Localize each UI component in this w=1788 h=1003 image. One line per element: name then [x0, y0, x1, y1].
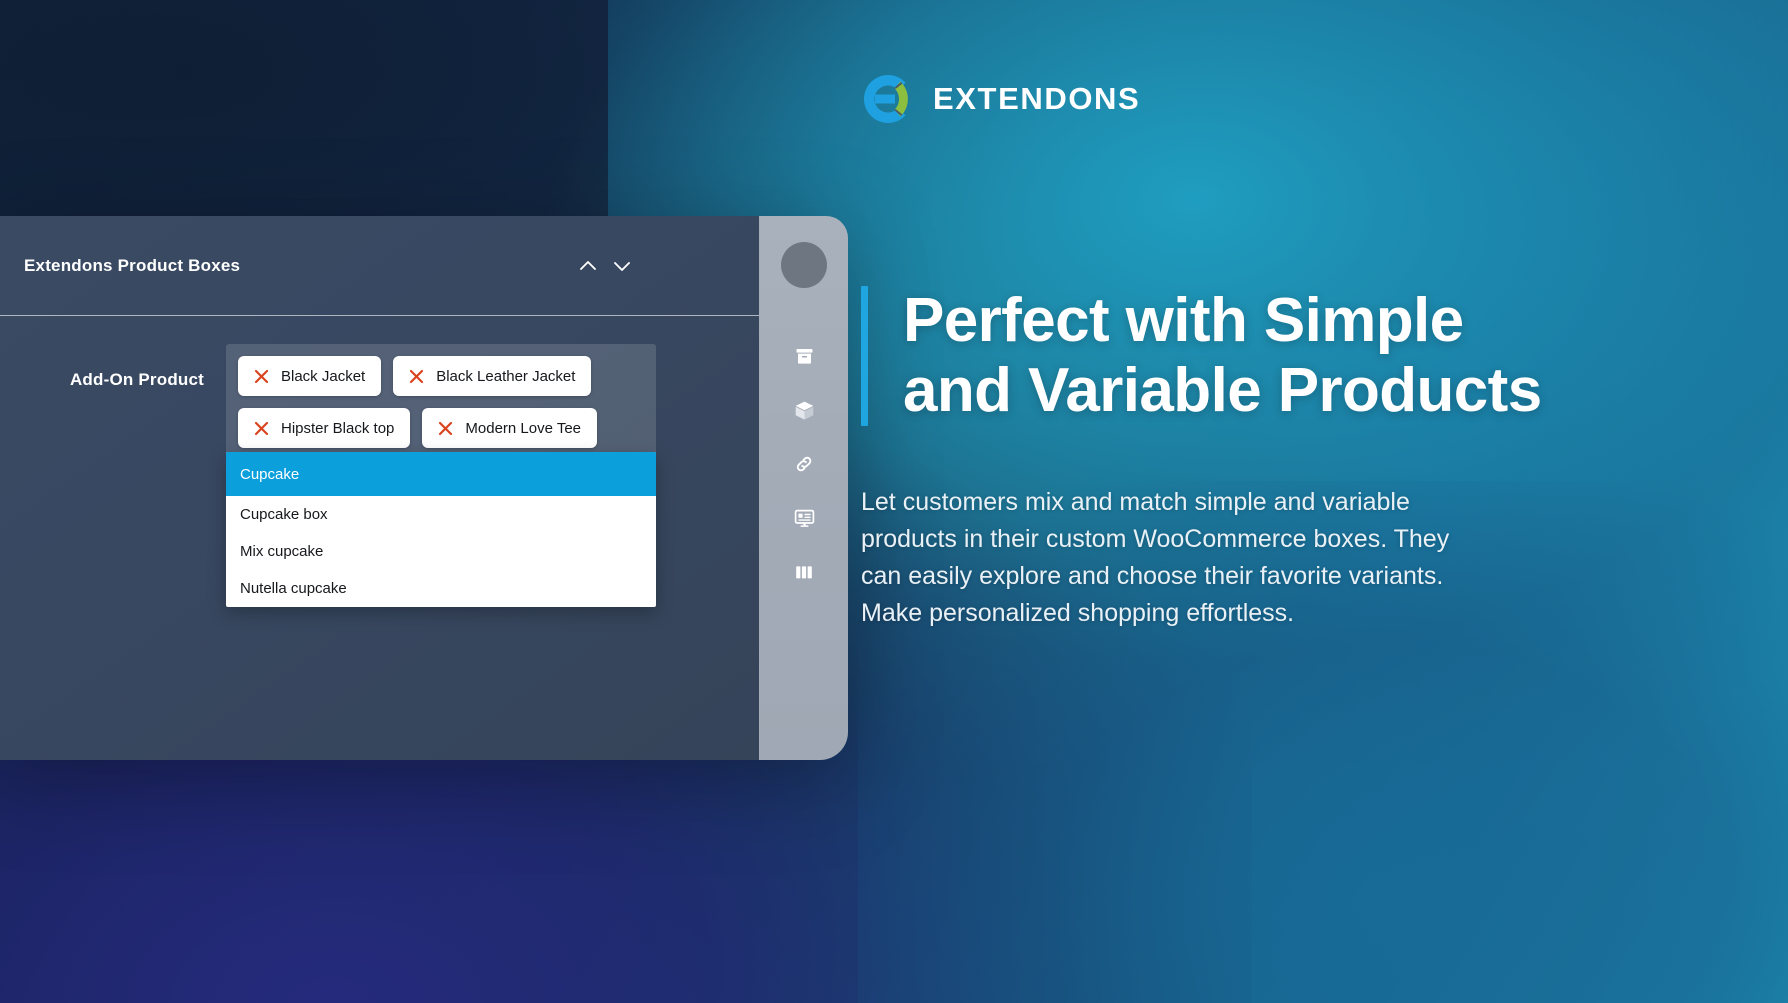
brand-logo: EXTENDONS [861, 72, 1140, 126]
columns-icon[interactable] [786, 554, 822, 590]
chip-black-leather-jacket[interactable]: Black Leather Jacket [393, 356, 591, 396]
close-x-icon[interactable] [438, 421, 453, 436]
extendons-circle-e-logo [861, 72, 915, 126]
headline-accent-bar [861, 286, 868, 426]
user-avatar-circle[interactable] [781, 242, 827, 288]
close-x-icon[interactable] [254, 369, 269, 384]
page-headline: Perfect with Simple and Variable Product… [903, 286, 1542, 426]
archive-box-icon[interactable] [786, 338, 822, 374]
marketing-copy: Perfect with Simple and Variable Product… [861, 286, 1561, 632]
chain-link-icon[interactable] [786, 446, 822, 482]
headline-line-2: and Variable Products [903, 356, 1542, 426]
chip-label: Black Leather Jacket [436, 368, 575, 385]
rail-icon-list [786, 338, 822, 590]
add-on-product-field-row: Add-On Product Black Jacket [0, 344, 759, 462]
headline-line-1: Perfect with Simple [903, 286, 1542, 356]
app-sidebar-rail [760, 216, 848, 760]
chip-label: Hipster Black top [281, 420, 394, 437]
app-card-body: Add-On Product Black Jacket [0, 316, 759, 462]
add-on-product-label: Add-On Product [0, 344, 226, 390]
chevron-up-icon[interactable] [577, 255, 599, 277]
chip-hipster-black-top[interactable]: Hipster Black top [238, 408, 410, 448]
app-card-header: Extendons Product Boxes [0, 216, 759, 316]
page-title: Extendons Product Boxes [24, 256, 240, 276]
product-options-dropdown[interactable]: Cupcake Cupcake box Mix cupcake Nutella … [226, 452, 656, 607]
chevron-down-icon[interactable] [611, 255, 633, 277]
chip-label: Modern Love Tee [465, 420, 581, 437]
chip-modern-love-tee[interactable]: Modern Love Tee [422, 408, 597, 448]
brand-name: EXTENDONS [933, 81, 1140, 117]
dropdown-option-cupcake[interactable]: Cupcake [226, 452, 656, 496]
product-boxes-app-card: Extendons Product Boxes Add-On Product [0, 216, 848, 760]
chip-black-jacket[interactable]: Black Jacket [238, 356, 381, 396]
dropdown-option-mix-cupcake[interactable]: Mix cupcake [226, 533, 656, 570]
headline-row: Perfect with Simple and Variable Product… [861, 286, 1561, 426]
dropdown-option-nutella-cupcake[interactable]: Nutella cupcake [226, 570, 656, 607]
monitor-card-icon[interactable] [786, 500, 822, 536]
add-on-product-multiselect[interactable]: Black Jacket Black Leather Jacket [226, 344, 656, 462]
chip-label: Black Jacket [281, 368, 365, 385]
marketing-body-text: Let customers mix and match simple and v… [861, 484, 1461, 632]
app-card-main: Extendons Product Boxes Add-On Product [0, 216, 760, 760]
dropdown-option-cupcake-box[interactable]: Cupcake box [226, 496, 656, 533]
header-toggle-group [577, 255, 633, 277]
package-cube-icon[interactable] [786, 392, 822, 428]
close-x-icon[interactable] [254, 421, 269, 436]
selected-chips-container: Black Jacket Black Leather Jacket [226, 344, 656, 462]
close-x-icon[interactable] [409, 369, 424, 384]
